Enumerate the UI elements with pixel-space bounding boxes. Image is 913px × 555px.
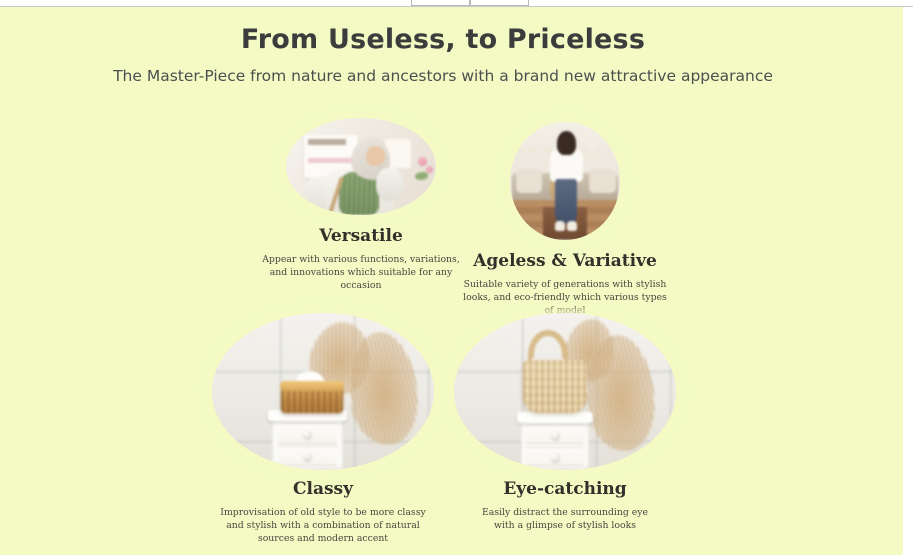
page-subtitle: The Master-Piece from nature and ancesto… bbox=[0, 67, 886, 86]
feature-description-eye-catching: Easily distract the surrounding eye with… bbox=[449, 506, 681, 532]
window-chrome-strip bbox=[0, 0, 913, 7]
page-right-gutter bbox=[903, 7, 913, 555]
feature-card-ageless-variative[interactable]: Ageless & Variative Suitable variety of … bbox=[454, 122, 676, 318]
feature-description-classy: Improvisation of old style to be more cl… bbox=[207, 506, 439, 546]
feature-image-ageless-variative bbox=[510, 122, 620, 240]
feature-card-classy[interactable]: Classy Improvisation of old style to be … bbox=[207, 313, 439, 546]
feature-title-eye-catching: Eye-catching bbox=[449, 479, 681, 499]
chrome-control-left[interactable] bbox=[411, 0, 470, 6]
feature-title-classy: Classy bbox=[207, 479, 439, 499]
feature-title-versatile: Versatile bbox=[250, 226, 472, 246]
feature-description-ageless-variative: Suitable variety of generations with sty… bbox=[454, 278, 676, 318]
feature-image-eye-catching bbox=[454, 313, 676, 470]
feature-title-ageless-variative: Ageless & Variative bbox=[454, 251, 676, 271]
feature-image-versatile bbox=[286, 118, 436, 215]
page-title: From Useless, to Priceless bbox=[0, 24, 886, 55]
feature-image-classy bbox=[212, 313, 434, 470]
chrome-control-right[interactable] bbox=[470, 0, 529, 6]
page-canvas: From Useless, to Priceless The Master-Pi… bbox=[0, 7, 903, 555]
feature-description-versatile: Appear with various functions, variation… bbox=[250, 253, 472, 293]
feature-card-eye-catching[interactable]: Eye-catching Easily distract the surroun… bbox=[449, 313, 681, 532]
feature-card-versatile[interactable]: Versatile Appear with various functions,… bbox=[250, 118, 472, 293]
